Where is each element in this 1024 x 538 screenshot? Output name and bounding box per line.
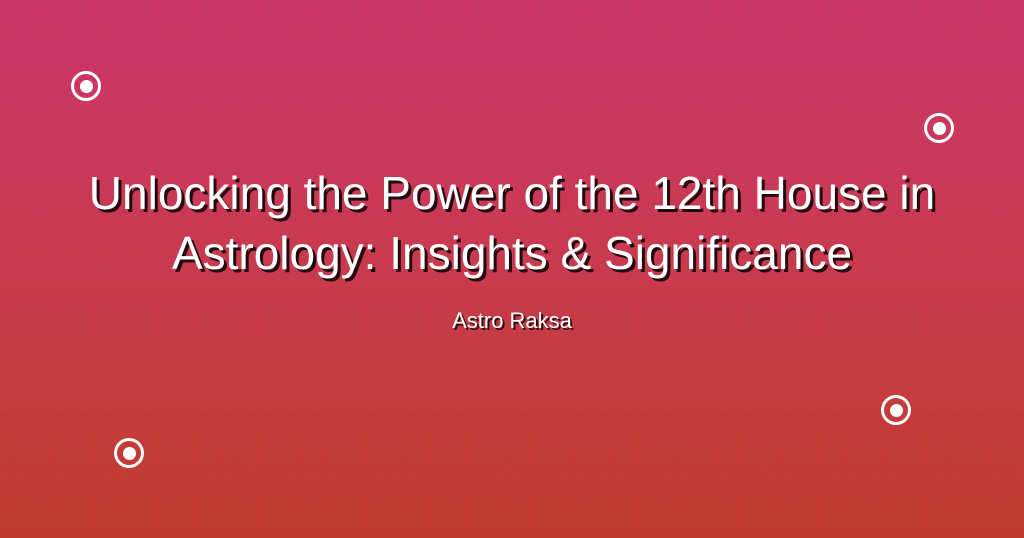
page-title: Unlocking the Power of the 12th House in… xyxy=(40,163,984,283)
subtitle-author: Astro Raksa xyxy=(40,307,984,335)
ring-dot-icon-bottom-right xyxy=(881,395,911,425)
ring-dot-icon-center xyxy=(80,80,93,93)
ring-dot-icon-top-right xyxy=(924,113,954,143)
ring-dot-icon-center xyxy=(123,447,136,460)
title-slide: Unlocking the Power of the 12th House in… xyxy=(0,0,1024,538)
ring-dot-icon-center xyxy=(890,404,903,417)
slide-content: Unlocking the Power of the 12th House in… xyxy=(0,163,1024,335)
ring-dot-icon-bottom-left xyxy=(114,438,144,468)
ring-dot-icon-top-left xyxy=(71,71,101,101)
ring-dot-icon-center xyxy=(933,122,946,135)
